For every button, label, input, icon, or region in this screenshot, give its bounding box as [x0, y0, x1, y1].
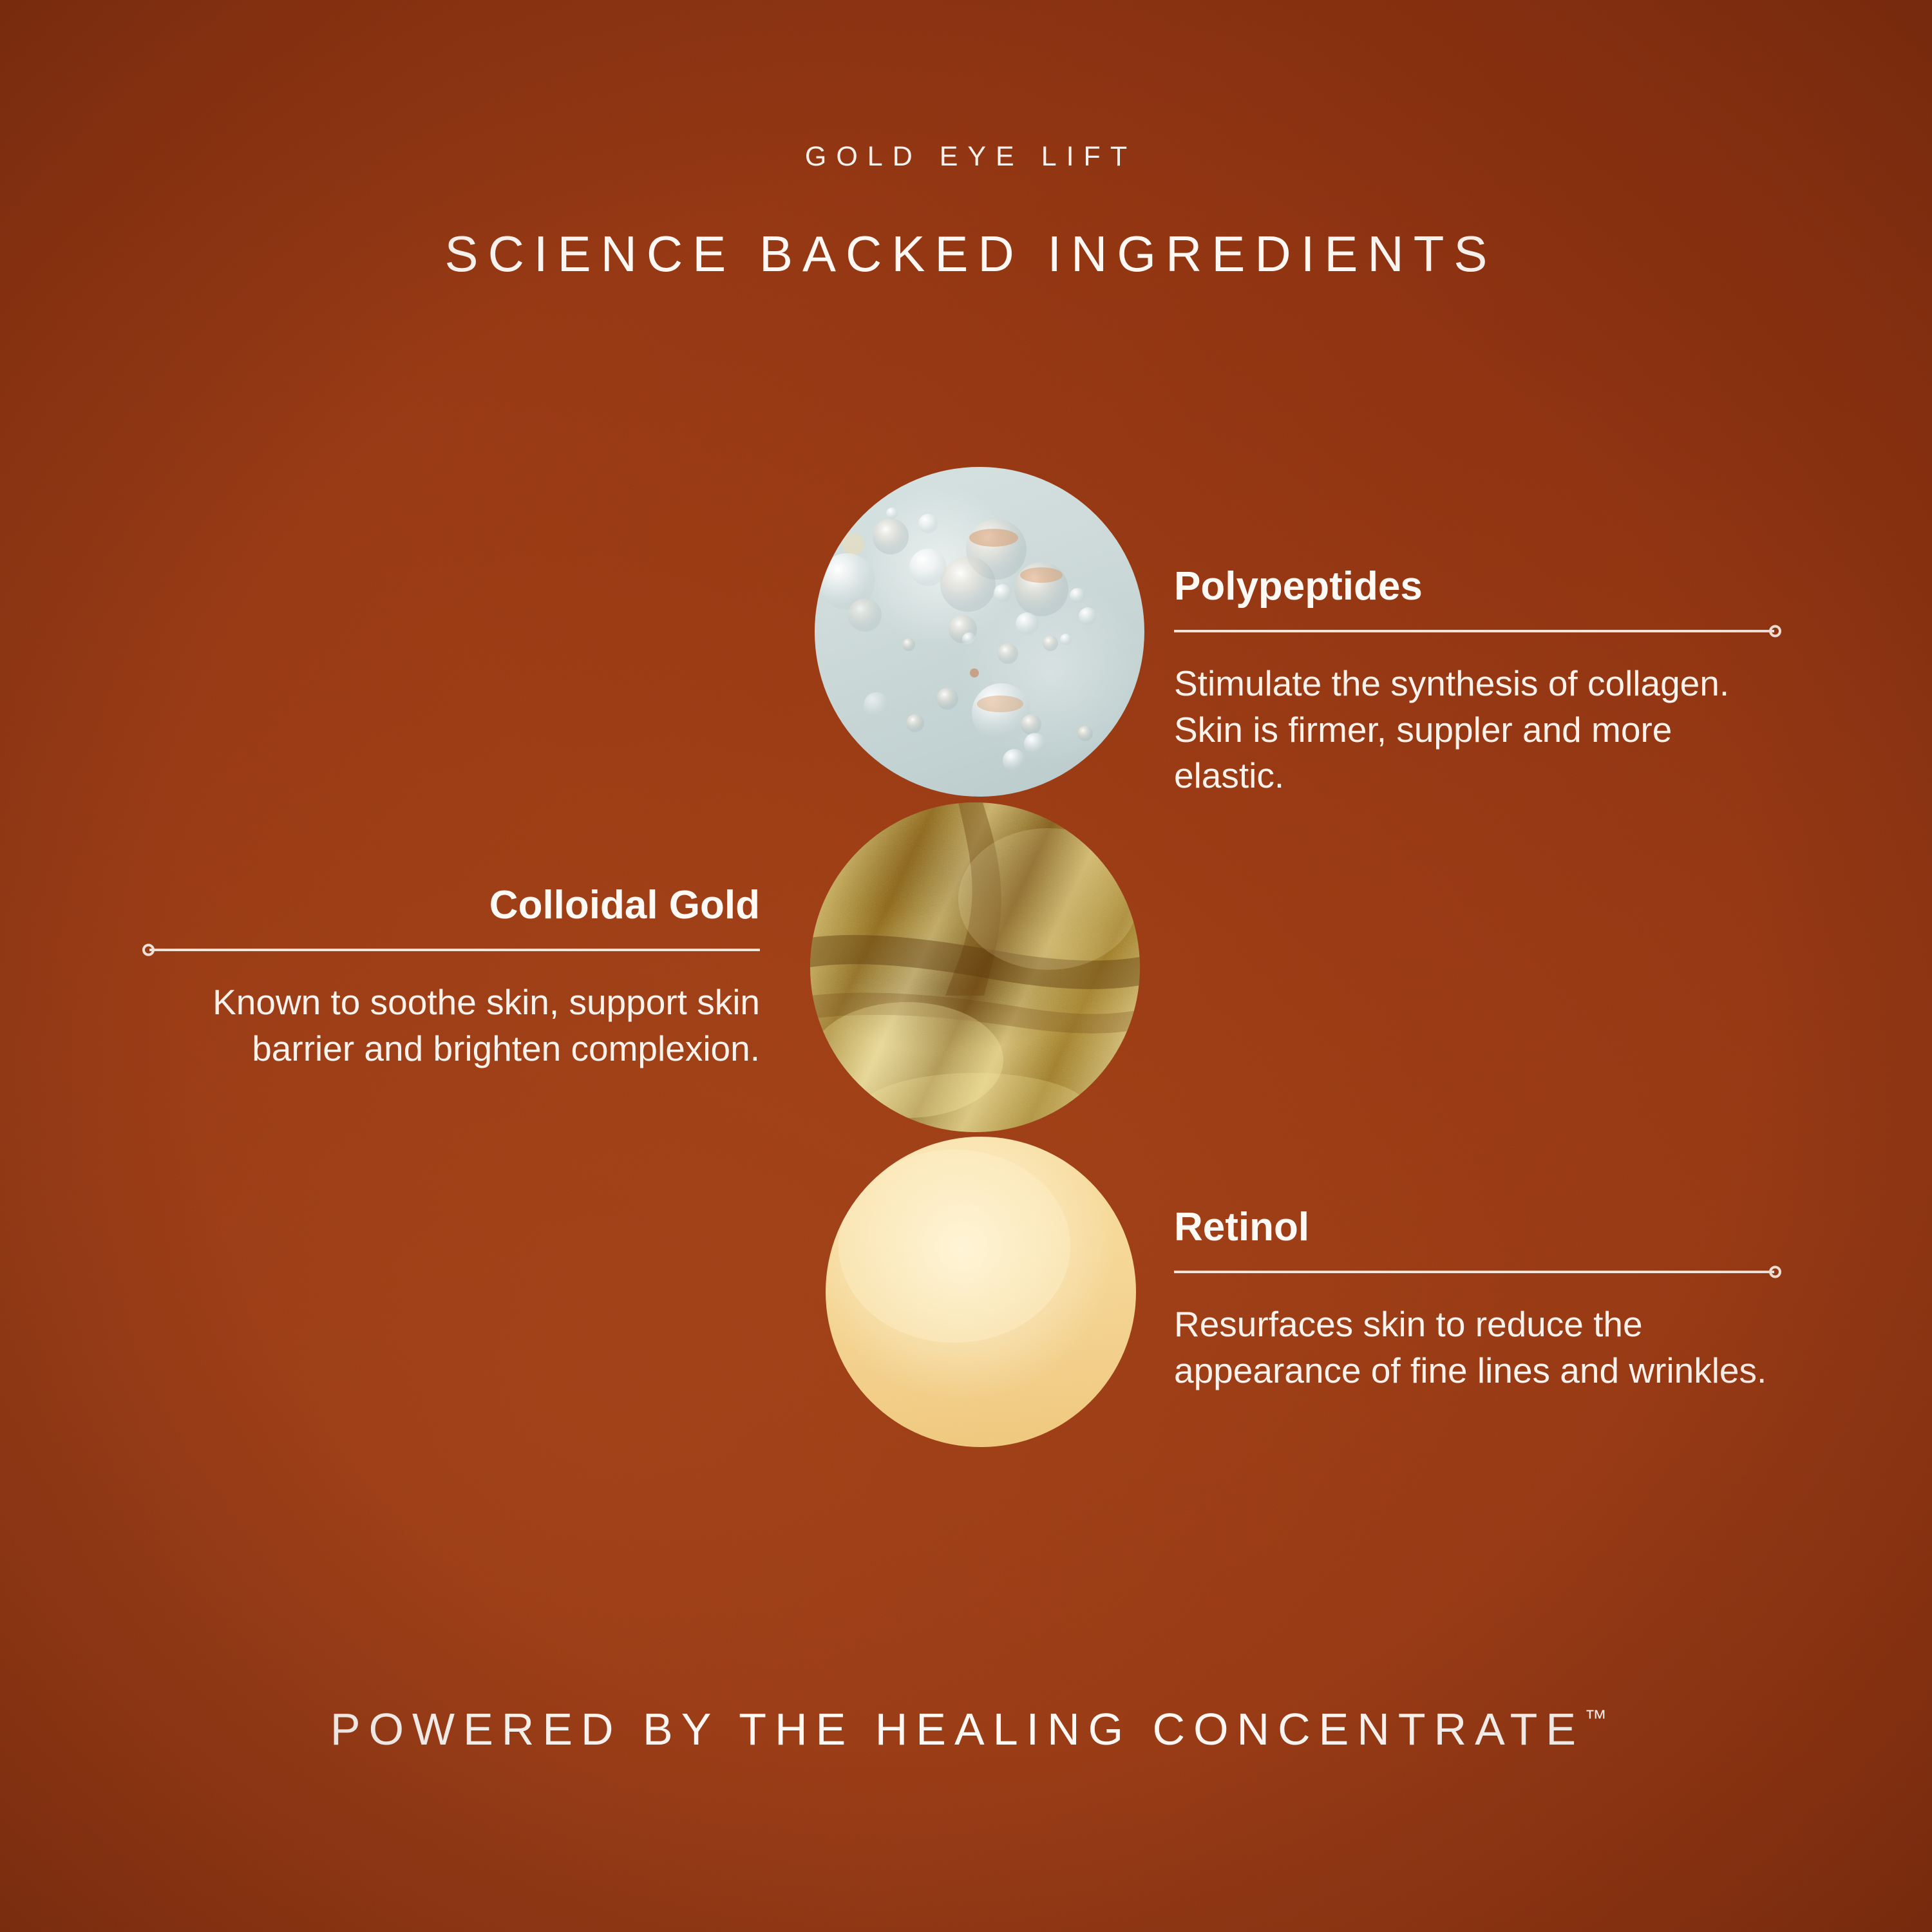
trademark-icon: ™	[1584, 1705, 1610, 1730]
ingredient-description: Stimulate the synthesis of collagen. Ski…	[1174, 661, 1774, 799]
ingredient-divider	[1174, 1271, 1774, 1273]
ingredient-divider	[1174, 630, 1774, 632]
ingredient-description: Known to soothe skin, support skin barri…	[149, 980, 760, 1072]
divider-end-dot-icon	[1769, 625, 1781, 638]
footer-tagline: POWERED BY THE HEALING CONCENTRATE™	[0, 1707, 1932, 1752]
ingredient-name: Retinol	[1174, 1207, 1774, 1247]
ingredient-name: Polypeptides	[1174, 567, 1774, 607]
serum-bubbles-icon	[815, 467, 1144, 797]
ingredient-divider	[149, 949, 760, 951]
ingredient-block-colloidal-gold: Colloidal Gold Known to soothe skin, sup…	[149, 885, 760, 1072]
ingredient-block-retinol: Retinol Resurfaces skin to reduce the ap…	[1174, 1207, 1774, 1394]
footer-tagline-text: POWERED BY THE HEALING CONCENTRATE	[330, 1704, 1584, 1754]
divider-end-dot-icon	[1769, 1266, 1781, 1278]
product-ingredients-poster: GOLD EYE LIFT SCIENCE BACKED INGREDIENTS	[0, 0, 1932, 1932]
ingredient-block-polypeptides: Polypeptides Stimulate the synthesis of …	[1174, 567, 1774, 799]
polypeptide-serum-bubbles-swatch	[815, 467, 1144, 797]
cream-texture-icon	[826, 1137, 1136, 1447]
colloidal-gold-shimmer-swatch	[810, 802, 1140, 1132]
gold-shimmer-icon	[810, 802, 1140, 1132]
ingredient-name: Colloidal Gold	[149, 885, 760, 925]
retinol-cream-swatch	[826, 1137, 1136, 1447]
eyebrow-label: GOLD EYE LIFT	[0, 143, 1932, 171]
divider-end-dot-icon	[142, 944, 155, 956]
ingredient-description: Resurfaces skin to reduce the appearance…	[1174, 1302, 1774, 1394]
page-title: SCIENCE BACKED INGREDIENTS	[0, 227, 1932, 282]
